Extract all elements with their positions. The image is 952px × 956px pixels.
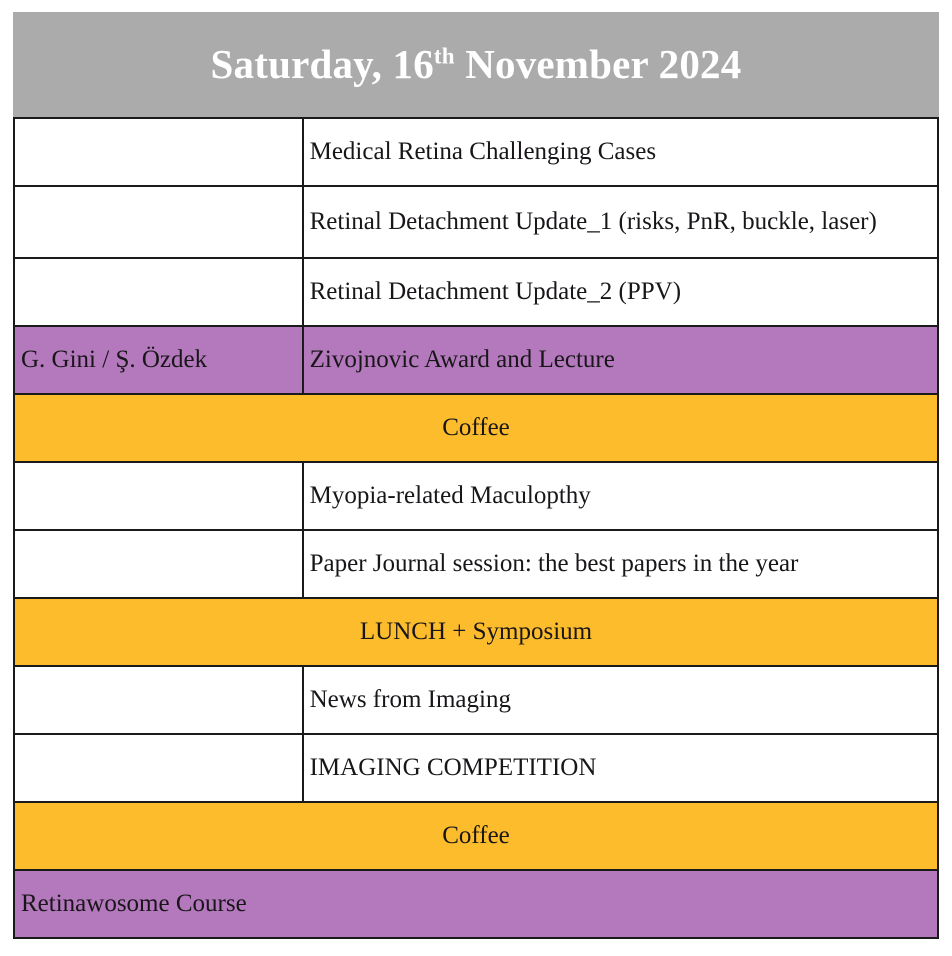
table-row-break: Coffee: [14, 802, 938, 870]
table-row: Paper Journal session: the best papers i…: [14, 530, 938, 598]
speaker-cell: [14, 530, 303, 598]
table-row: IMAGING COMPETITION: [14, 734, 938, 802]
course-label: Retinawosome Course: [14, 870, 938, 938]
schedule-table: Medical Retina Challenging Cases Retinal…: [13, 117, 939, 939]
speaker-cell: [14, 258, 303, 326]
header-date-number: 16: [393, 41, 434, 87]
header-date-ordinal: th: [434, 43, 455, 68]
table-row-award: G. Gini / Ş. Özdek Zivojnovic Award and …: [14, 326, 938, 394]
topic-cell: Zivojnovic Award and Lecture: [303, 326, 938, 394]
table-row: Myopia-related Maculopthy: [14, 462, 938, 530]
table-row-break: LUNCH + Symposium: [14, 598, 938, 666]
table-row: Medical Retina Challenging Cases: [14, 118, 938, 186]
table-row: Retinal Detachment Update_1 (risks, PnR,…: [14, 186, 938, 258]
schedule-table-body: Medical Retina Challenging Cases Retinal…: [14, 118, 938, 938]
speaker-cell: [14, 734, 303, 802]
topic-cell: Retinal Detachment Update_2 (PPV): [303, 258, 938, 326]
break-label: Coffee: [14, 394, 938, 462]
header-day: Saturday,: [211, 41, 383, 87]
topic-cell: Retinal Detachment Update_1 (risks, PnR,…: [303, 186, 938, 258]
topic-cell: Medical Retina Challenging Cases: [303, 118, 938, 186]
day-schedule: Saturday, 16th November 2024 Medical Ret…: [13, 12, 939, 939]
speaker-cell: [14, 462, 303, 530]
break-label: LUNCH + Symposium: [14, 598, 938, 666]
table-row-break: Coffee: [14, 394, 938, 462]
topic-cell: News from Imaging: [303, 666, 938, 734]
speaker-cell: [14, 118, 303, 186]
speaker-cell: [14, 186, 303, 258]
header-month-year: November 2024: [465, 41, 741, 87]
page-title: Saturday, 16th November 2024: [211, 44, 742, 85]
topic-cell: Paper Journal session: the best papers i…: [303, 530, 938, 598]
topic-cell: Myopia-related Maculopthy: [303, 462, 938, 530]
speaker-cell: [14, 666, 303, 734]
day-header-banner: Saturday, 16th November 2024: [13, 12, 939, 117]
table-row: Retinal Detachment Update_2 (PPV): [14, 258, 938, 326]
table-row: News from Imaging: [14, 666, 938, 734]
speaker-cell: G. Gini / Ş. Özdek: [14, 326, 303, 394]
break-label: Coffee: [14, 802, 938, 870]
table-row-course: Retinawosome Course: [14, 870, 938, 938]
topic-cell: IMAGING COMPETITION: [303, 734, 938, 802]
